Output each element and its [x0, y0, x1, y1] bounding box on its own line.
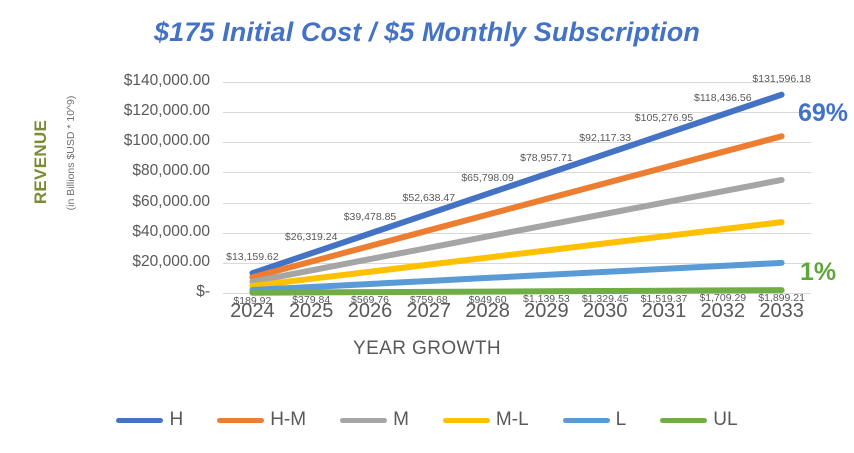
data-label-ul: $1,329.45 [582, 293, 629, 305]
annotation-high-percent: 69% [798, 99, 848, 128]
legend-label: M-L [496, 409, 529, 431]
legend-item-h[interactable]: H [116, 409, 183, 431]
x-axis-title: YEAR GROWTH [0, 338, 854, 360]
y-axis-subtitle: (in Billions $USD * 10^9) [65, 88, 77, 218]
legend-item-ul[interactable]: UL [660, 409, 737, 431]
chart-container: $175 Initial Cost / $5 Monthly Subscript… [0, 0, 854, 453]
y-axis-tick: $120,000.00 [90, 102, 210, 120]
chart-legend: HH-MMM-LLUL [0, 405, 854, 435]
y-axis-tick-labels: $140,000.00$120,000.00$100,000.00$80,000… [90, 82, 210, 293]
data-label-ul: $189.92 [233, 295, 271, 307]
legend-swatch-icon [116, 418, 163, 423]
data-label-h: $52,638.47 [403, 192, 456, 204]
legend-swatch-icon [563, 418, 610, 423]
data-label-ul: $759.68 [410, 294, 448, 306]
data-label-h: $131,596.18 [752, 73, 810, 85]
y-axis-tick: $20,000.00 [90, 253, 210, 271]
data-label-ul: $1,519.37 [641, 293, 688, 305]
legend-label: H [169, 409, 183, 431]
data-label-h: $65,798.09 [461, 172, 514, 184]
legend-item-h-m[interactable]: H-M [217, 409, 306, 431]
data-label-h: $78,957.71 [520, 152, 573, 164]
gridline [223, 142, 811, 143]
legend-item-m-l[interactable]: M-L [443, 409, 529, 431]
y-axis-tick: $60,000.00 [90, 193, 210, 211]
y-axis-tick: $140,000.00 [90, 72, 210, 90]
legend-swatch-icon [340, 418, 387, 423]
plot-area [223, 82, 811, 293]
legend-label: UL [713, 409, 737, 431]
gridline [223, 112, 811, 113]
data-label-ul: $1,709.29 [699, 292, 746, 304]
gridline [223, 172, 811, 173]
y-axis-tick: $100,000.00 [90, 132, 210, 150]
data-label-ul: $569.76 [351, 294, 389, 306]
y-axis-tick: $40,000.00 [90, 223, 210, 241]
data-label-h: $118,436.56 [694, 92, 752, 104]
y-axis-title: REVENUE [31, 102, 51, 222]
legend-swatch-icon [443, 418, 490, 423]
gridline [223, 203, 811, 204]
legend-label: H-M [270, 409, 306, 431]
legend-label: M [393, 409, 409, 431]
data-label-ul: $1,139.53 [523, 293, 570, 305]
gridline [223, 263, 811, 264]
data-label-h: $39,478.85 [344, 211, 397, 223]
data-label-h: $13,159.62 [226, 251, 279, 263]
annotation-low-percent: 1% [800, 258, 836, 287]
data-label-ul: $379.84 [292, 294, 330, 306]
data-label-ul: $1,899.21 [758, 292, 805, 304]
data-label-h: $105,276.95 [635, 112, 693, 124]
data-label-h: $92,117.33 [579, 132, 631, 144]
y-axis-tick: $- [90, 283, 210, 301]
legend-label: L [616, 409, 627, 431]
legend-item-l[interactable]: L [563, 409, 627, 431]
legend-swatch-icon [217, 418, 264, 423]
legend-item-m[interactable]: M [340, 409, 409, 431]
y-axis-tick: $80,000.00 [90, 162, 210, 180]
gridline [223, 82, 811, 83]
legend-swatch-icon [660, 418, 707, 423]
chart-title: $175 Initial Cost / $5 Monthly Subscript… [0, 17, 854, 48]
data-label-ul: $949.60 [469, 294, 507, 306]
data-label-h: $26,319.24 [285, 231, 338, 243]
